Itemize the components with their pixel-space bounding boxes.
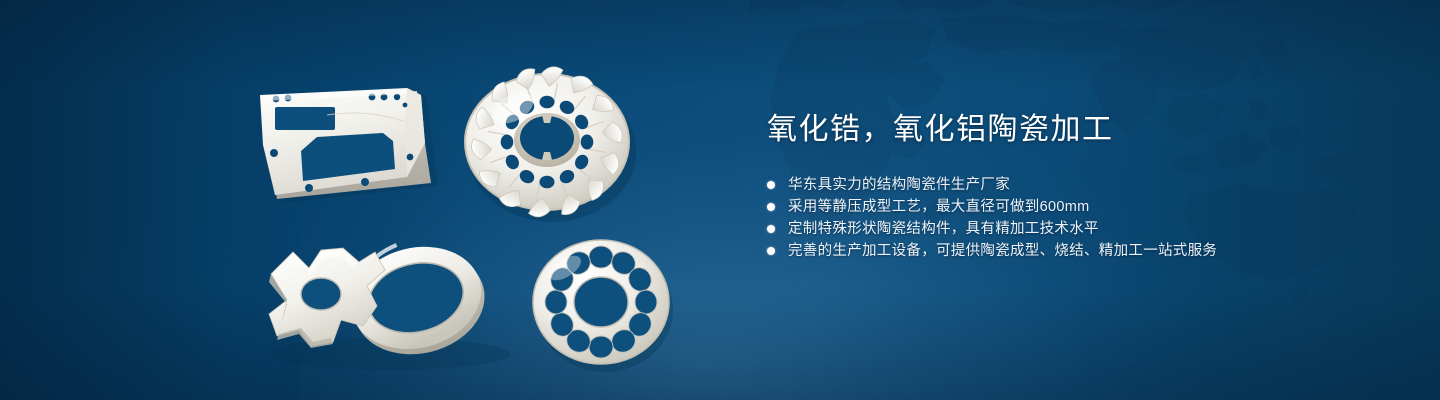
ceramic-cross-part-and-ring xyxy=(255,228,520,368)
ceramic-perforated-ring xyxy=(528,232,678,372)
ceramic-flat-plate xyxy=(255,85,440,205)
list-item-label: 定制特殊形状陶瓷结构件，具有精加工技术水平 xyxy=(788,218,1099,240)
bullet-dot-icon xyxy=(767,247,775,255)
product-photo-group xyxy=(0,0,700,400)
ceramic-impeller-disc xyxy=(452,52,642,227)
marketing-copy: 氧化锆，氧化铝陶瓷加工 华东具实力的结构陶瓷件生产厂家 采用等静压成型工艺，最大… xyxy=(767,110,1387,262)
bullet-dot-icon xyxy=(767,225,775,233)
list-item: 采用等静压成型工艺，最大直径可做到600mm xyxy=(767,196,1387,218)
list-item: 定制特殊形状陶瓷结构件，具有精加工技术水平 xyxy=(767,218,1387,240)
bullet-dot-icon xyxy=(767,181,775,189)
list-item-label: 华东具实力的结构陶瓷件生产厂家 xyxy=(788,174,1010,196)
page-title: 氧化锆，氧化铝陶瓷加工 xyxy=(767,110,1387,150)
feature-list: 华东具实力的结构陶瓷件生产厂家 采用等静压成型工艺，最大直径可做到600mm 定… xyxy=(767,174,1387,262)
list-item: 完善的生产加工设备，可提供陶瓷成型、烧结、精加工一站式服务 xyxy=(767,240,1387,262)
promo-banner: 氧化锆，氧化铝陶瓷加工 华东具实力的结构陶瓷件生产厂家 采用等静压成型工艺，最大… xyxy=(0,0,1440,400)
list-item-label: 采用等静压成型工艺，最大直径可做到600mm xyxy=(788,196,1089,218)
bullet-dot-icon xyxy=(767,203,775,211)
list-item: 华东具实力的结构陶瓷件生产厂家 xyxy=(767,174,1387,196)
list-item-label: 完善的生产加工设备，可提供陶瓷成型、烧结、精加工一站式服务 xyxy=(788,240,1217,262)
